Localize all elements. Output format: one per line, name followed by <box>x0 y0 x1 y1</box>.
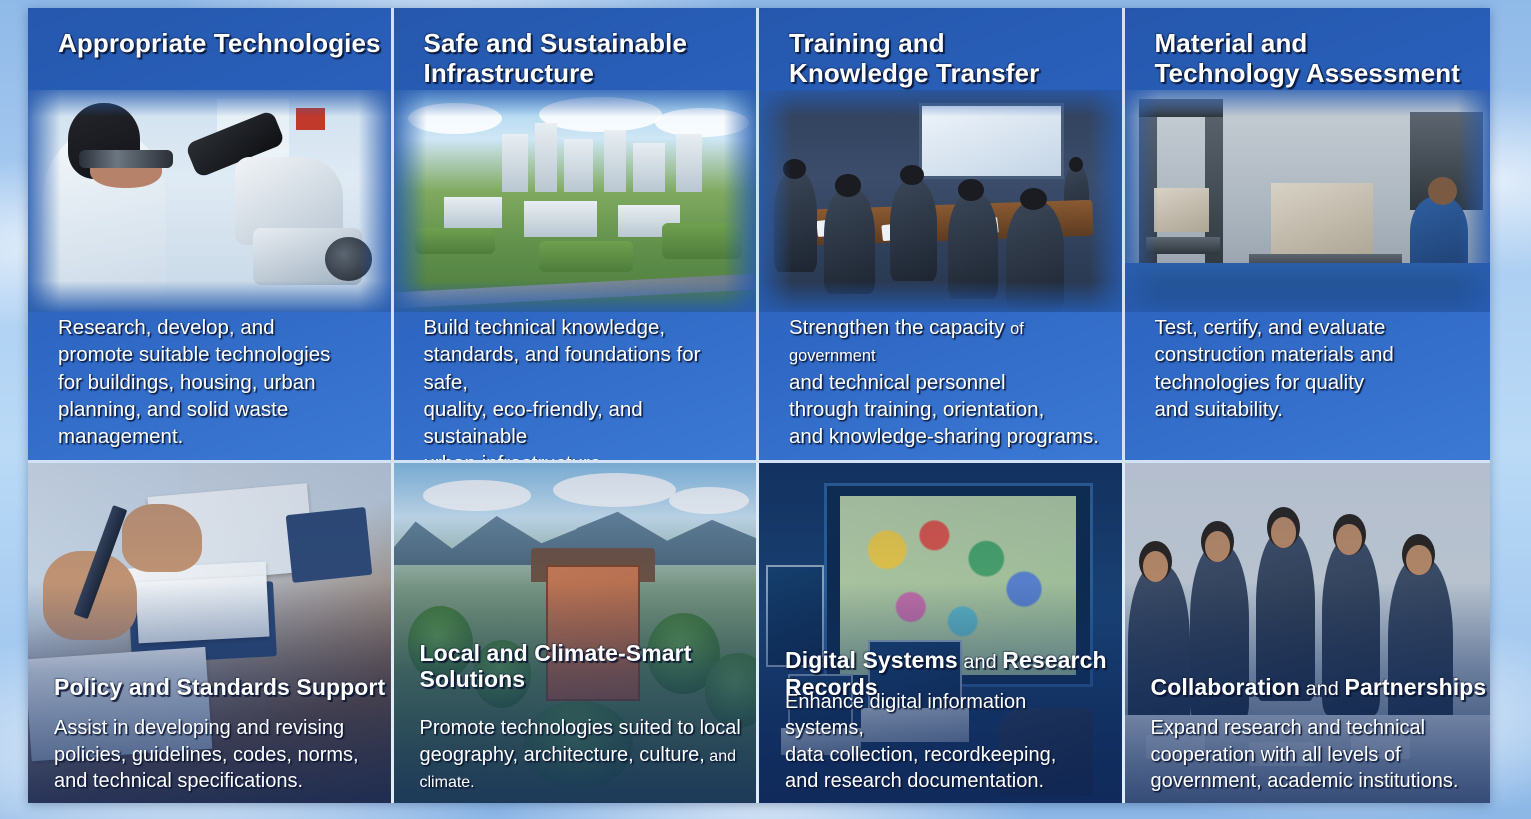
card-body: Build technical knowledge, standards, an… <box>424 314 739 463</box>
card-title: Policy and Standards Support <box>54 674 385 701</box>
card-body: Expand research and technical cooperatio… <box>1151 715 1479 795</box>
card-body: Research, develop, and promote suitable … <box>58 314 373 450</box>
card-title: Material and Technology Assessment <box>1155 28 1484 88</box>
body-text-main: geography, architecture, culture, <box>420 744 705 766</box>
scientist-at-microscope-photo <box>28 90 391 312</box>
card-appropriate-technologies[interactable]: Appropriate Technologies Research, devel… <box>28 8 394 463</box>
card-digital-systems-and-research-records[interactable]: Digital Systems and Research Records Enh… <box>759 463 1125 803</box>
card-title: Safe and Sustainable Infrastructure <box>424 28 750 88</box>
card-policy-and-standards-support[interactable]: Policy and Standards Support Assist in d… <box>28 463 394 803</box>
card-title-part2: Partnerships <box>1345 674 1487 700</box>
card-title: Collaboration and Partnerships <box>1151 674 1487 701</box>
card-title: Local and Climate-Smart Solutions <box>420 640 692 693</box>
card-body: Strengthen the capacity of government an… <box>789 314 1104 450</box>
body-text-main: Strengthen the capacity <box>789 316 1010 339</box>
material-testing-laboratory-photo <box>1125 90 1491 312</box>
green-city-aerial-photo <box>394 90 757 312</box>
training-hall-audience-photo <box>759 90 1122 312</box>
card-title-conjunction: and <box>1300 678 1344 700</box>
card-title: Appropriate Technologies <box>58 28 384 58</box>
card-body: Promote technologies suited to local geo… <box>420 715 745 795</box>
card-body: Enhance digital information systems, dat… <box>785 689 1110 795</box>
card-title-conjunction: and <box>958 651 1002 673</box>
card-title-part1: Collaboration <box>1151 674 1301 700</box>
card-title-part1: Digital Systems <box>785 647 958 673</box>
card-material-and-technology-assessment[interactable]: Material and Technology Assessment Test,… <box>1125 8 1491 463</box>
infographic-grid: Appropriate Technologies Research, devel… <box>28 8 1490 803</box>
card-safe-and-sustainable-infrastructure[interactable]: Safe and Sustainable Infrastructure Buil… <box>394 8 760 463</box>
card-collaboration-and-partnerships[interactable]: Collaboration and Partnerships Expand re… <box>1125 463 1491 803</box>
card-title: Training and Knowledge Transfer <box>789 28 1115 88</box>
card-training-and-knowledge-transfer[interactable]: Training and Knowledge Transfer Strength… <box>759 8 1125 463</box>
card-body: Test, certify, and evaluate construction… <box>1155 314 1473 423</box>
card-body: Assist in developing and revising polici… <box>54 715 379 795</box>
card-local-and-climate-smart-solutions[interactable]: Local and Climate-Smart Solutions Promot… <box>394 463 760 803</box>
